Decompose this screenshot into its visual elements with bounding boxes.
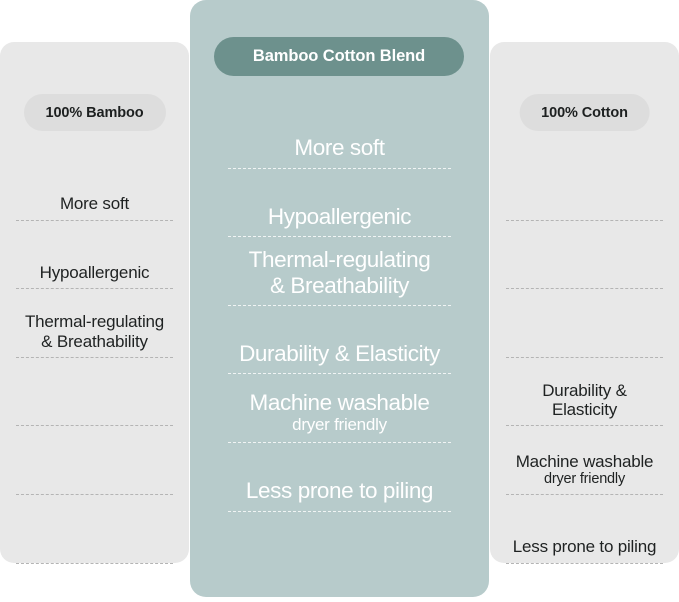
column-heading-cotton: 100% Cotton xyxy=(519,94,650,131)
table-row: Machine washable dryer friendly xyxy=(218,374,461,443)
table-row xyxy=(12,495,177,564)
table-row: Machine washable dryer friendly xyxy=(502,426,667,495)
table-row: Hypoallergenic xyxy=(12,221,177,290)
table-row xyxy=(502,221,667,290)
feature-label: Less prone to piling xyxy=(513,537,656,556)
feature-label: Machine washable xyxy=(516,452,654,471)
table-row: Less prone to piling xyxy=(502,495,667,564)
column-heading-blend: Bamboo Cotton Blend xyxy=(214,37,464,76)
table-row: Hypoallergenic xyxy=(218,169,461,238)
table-row xyxy=(502,289,667,358)
feature-label: Thermal-regulating& Breathability xyxy=(249,247,431,297)
column-bamboo-cotton-blend: Bamboo Cotton Blend More soft Hypoallerg… xyxy=(190,0,489,597)
feature-label: Less prone to piling xyxy=(246,478,433,503)
feature-label: Hypoallergenic xyxy=(40,263,150,282)
table-row xyxy=(12,358,177,427)
table-row: Thermal-regulating& Breathability xyxy=(218,237,461,306)
feature-rows-blend: More soft Hypoallergenic Thermal-regulat… xyxy=(190,100,489,512)
table-row: Durability &Elasticity xyxy=(502,358,667,427)
table-row: Less prone to piling xyxy=(218,443,461,512)
feature-label: More soft xyxy=(60,194,129,213)
feature-sublabel: dryer friendly xyxy=(292,415,387,435)
feature-label: More soft xyxy=(294,135,384,160)
feature-label: Durability & Elasticity xyxy=(239,341,440,366)
column-bamboo: 100% Bamboo More soft Hypoallergenic The… xyxy=(0,42,189,563)
column-heading-bamboo: 100% Bamboo xyxy=(23,94,165,131)
row-divider xyxy=(506,563,663,564)
table-row xyxy=(12,426,177,495)
row-divider xyxy=(228,511,451,512)
table-row: More soft xyxy=(218,100,461,169)
feature-rows-bamboo: More soft Hypoallergenic Thermal-regulat… xyxy=(0,152,189,564)
feature-label: Hypoallergenic xyxy=(268,204,411,229)
row-divider xyxy=(16,563,173,564)
table-row: Thermal-regulating& Breathability xyxy=(12,289,177,358)
comparison-infographic: 100% Bamboo More soft Hypoallergenic The… xyxy=(0,0,679,602)
feature-sublabel: dryer friendly xyxy=(544,471,625,488)
feature-label: Durability &Elasticity xyxy=(542,381,627,419)
table-row: Durability & Elasticity xyxy=(218,306,461,375)
table-row xyxy=(502,152,667,221)
feature-label: Thermal-regulating& Breathability xyxy=(25,312,164,350)
feature-label: Machine washable xyxy=(250,390,430,415)
feature-rows-cotton: Durability &Elasticity Machine washable … xyxy=(490,152,679,564)
column-cotton: 100% Cotton Durability &Elasticity Machi… xyxy=(490,42,679,563)
table-row: More soft xyxy=(12,152,177,221)
